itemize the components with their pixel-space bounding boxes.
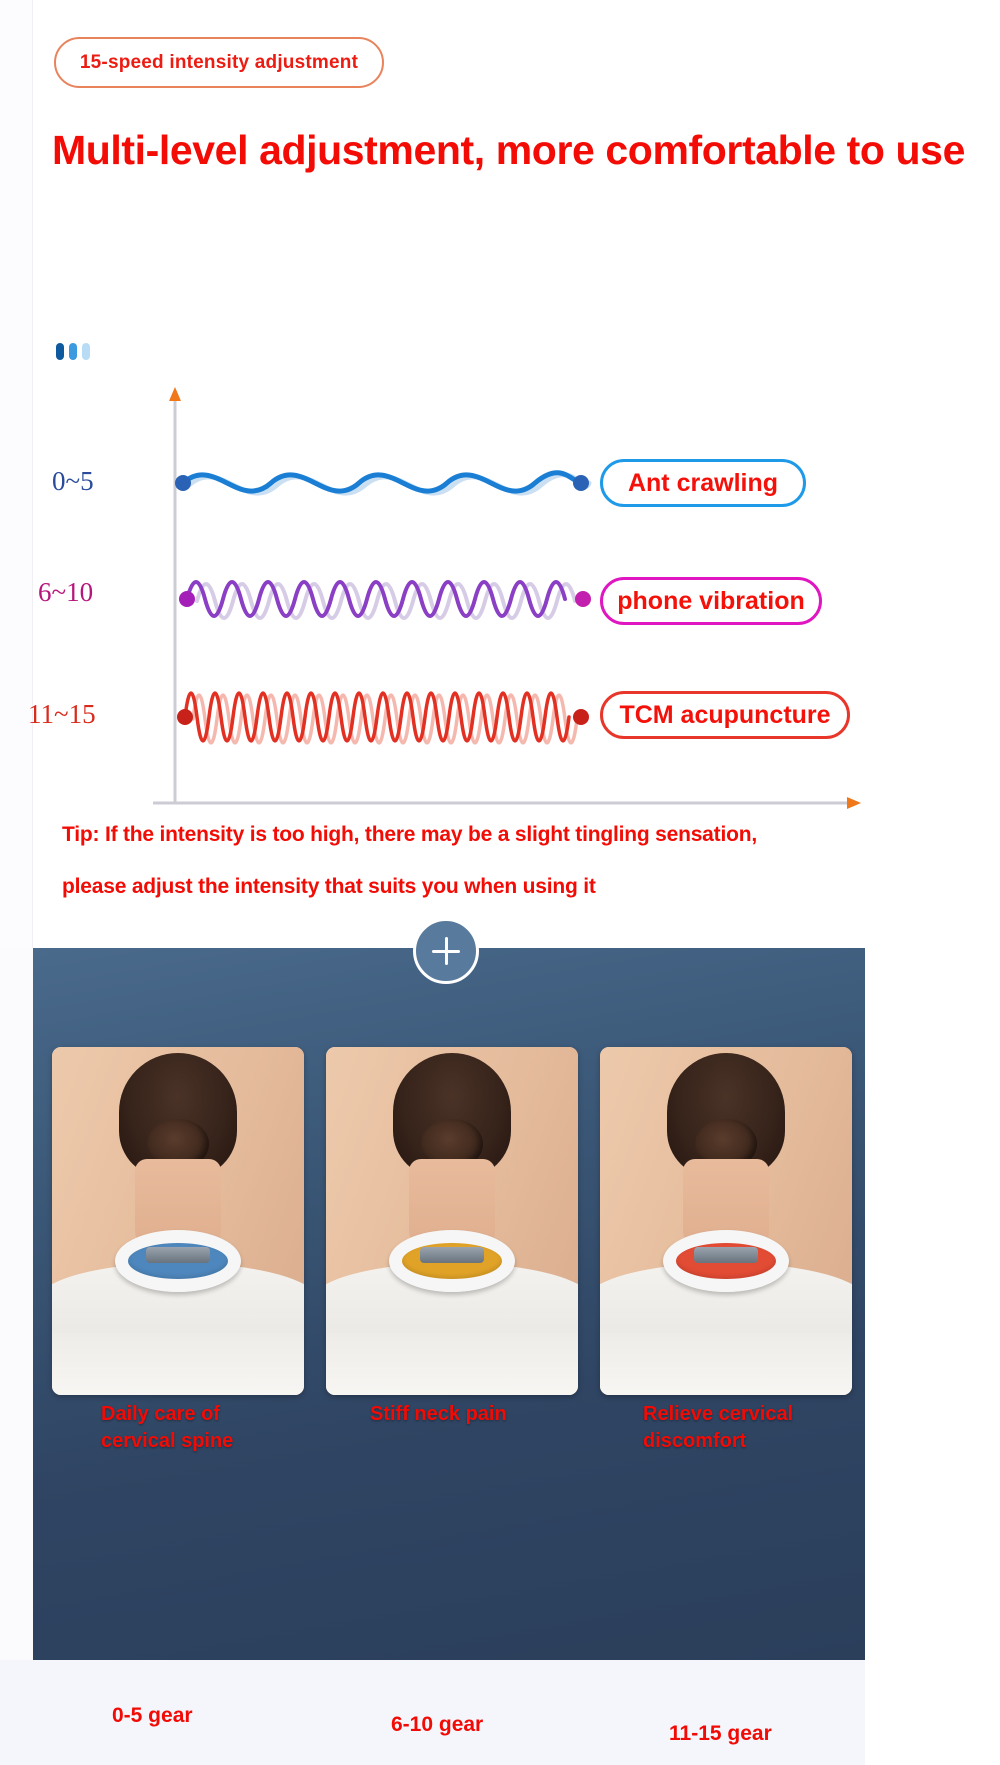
gear-label-11-15: 11-15 gear	[669, 1722, 772, 1746]
scenario-card[interactable]	[52, 1047, 304, 1395]
navy-left-margin	[0, 948, 33, 1660]
scenario-card[interactable]	[600, 1047, 852, 1395]
legend-pill-phone-vibration: phone vibration	[600, 577, 822, 625]
series-tcm-acupuncture-start-dot	[177, 709, 193, 725]
gear-range-label-6-10: 6~10	[38, 577, 93, 608]
series-tcm-acupuncture	[177, 693, 589, 743]
legend-pill-tcm-acupuncture-label: TCM acupuncture	[619, 701, 830, 730]
gear-range-label-11-15: 11~15	[28, 699, 96, 730]
massager-pad	[420, 1247, 484, 1263]
massager-pad	[146, 1247, 210, 1263]
gear-label-6-10: 6-10 gear	[391, 1713, 483, 1737]
model-shirt-lower	[52, 1333, 304, 1395]
series-ant-crawling-end-dot	[573, 475, 589, 491]
legend-pill-tcm-acupuncture: TCM acupuncture	[600, 691, 850, 739]
signal-bars-icon	[56, 318, 102, 360]
signal-bar-1	[56, 343, 64, 360]
signal-bar-2	[69, 343, 77, 360]
model-shirt-lower	[600, 1333, 852, 1395]
series-tcm-acupuncture-end-dot	[573, 709, 589, 725]
scenario-card[interactable]	[326, 1047, 578, 1395]
tip-text-line-2: please adjust the intensity that suits y…	[62, 875, 596, 899]
scenario-caption: Stiff neck pain	[370, 1401, 590, 1428]
plus-icon-vertical	[445, 937, 448, 965]
product-detail-page: 15-speed intensity adjustment Multi-leve…	[0, 0, 1000, 1765]
x-axis-arrow-icon	[847, 797, 861, 809]
scenario-photo	[52, 1047, 304, 1395]
navy-right-margin	[865, 948, 1000, 1660]
model-shirt-lower	[326, 1333, 578, 1395]
legend-pill-phone-vibration-label: phone vibration	[617, 587, 805, 616]
legend-pill-ant-crawling: Ant crawling	[600, 459, 806, 507]
scenario-caption: Relieve cervical discomfort	[643, 1401, 863, 1455]
series-ant-crawling	[175, 473, 589, 493]
tip-text-line-1: Tip: If the intensity is too high, there…	[62, 823, 757, 847]
intensity-badge: 15-speed intensity adjustment	[54, 37, 384, 88]
series-phone-vibration-start-dot	[179, 591, 195, 607]
massager-pad	[694, 1247, 758, 1263]
gear-range-label-0-5: 0~5	[52, 466, 94, 497]
scenario-caption: Daily care of cervical spine	[101, 1401, 321, 1455]
y-axis-arrow-icon	[169, 387, 181, 401]
expand-plus-button[interactable]	[413, 918, 479, 984]
intensity-badge-label: 15-speed intensity adjustment	[80, 52, 358, 74]
page-left-margin	[0, 0, 33, 948]
series-phone-vibration	[179, 582, 591, 618]
series-ant-crawling-start-dot	[175, 475, 191, 491]
scenario-photo	[600, 1047, 852, 1395]
legend-pill-ant-crawling-label: Ant crawling	[628, 469, 778, 498]
signal-bar-3	[82, 343, 90, 360]
series-phone-vibration-end-dot	[575, 591, 591, 607]
gear-label-0-5: 0-5 gear	[112, 1704, 193, 1728]
series-ant-crawling-line	[183, 473, 581, 491]
scenario-photo	[326, 1047, 578, 1395]
scenario-card-list	[52, 1047, 852, 1395]
gear-strip-right-margin	[865, 1660, 1000, 1765]
page-title: Multi-level adjustment, more comfortable…	[52, 127, 1000, 174]
